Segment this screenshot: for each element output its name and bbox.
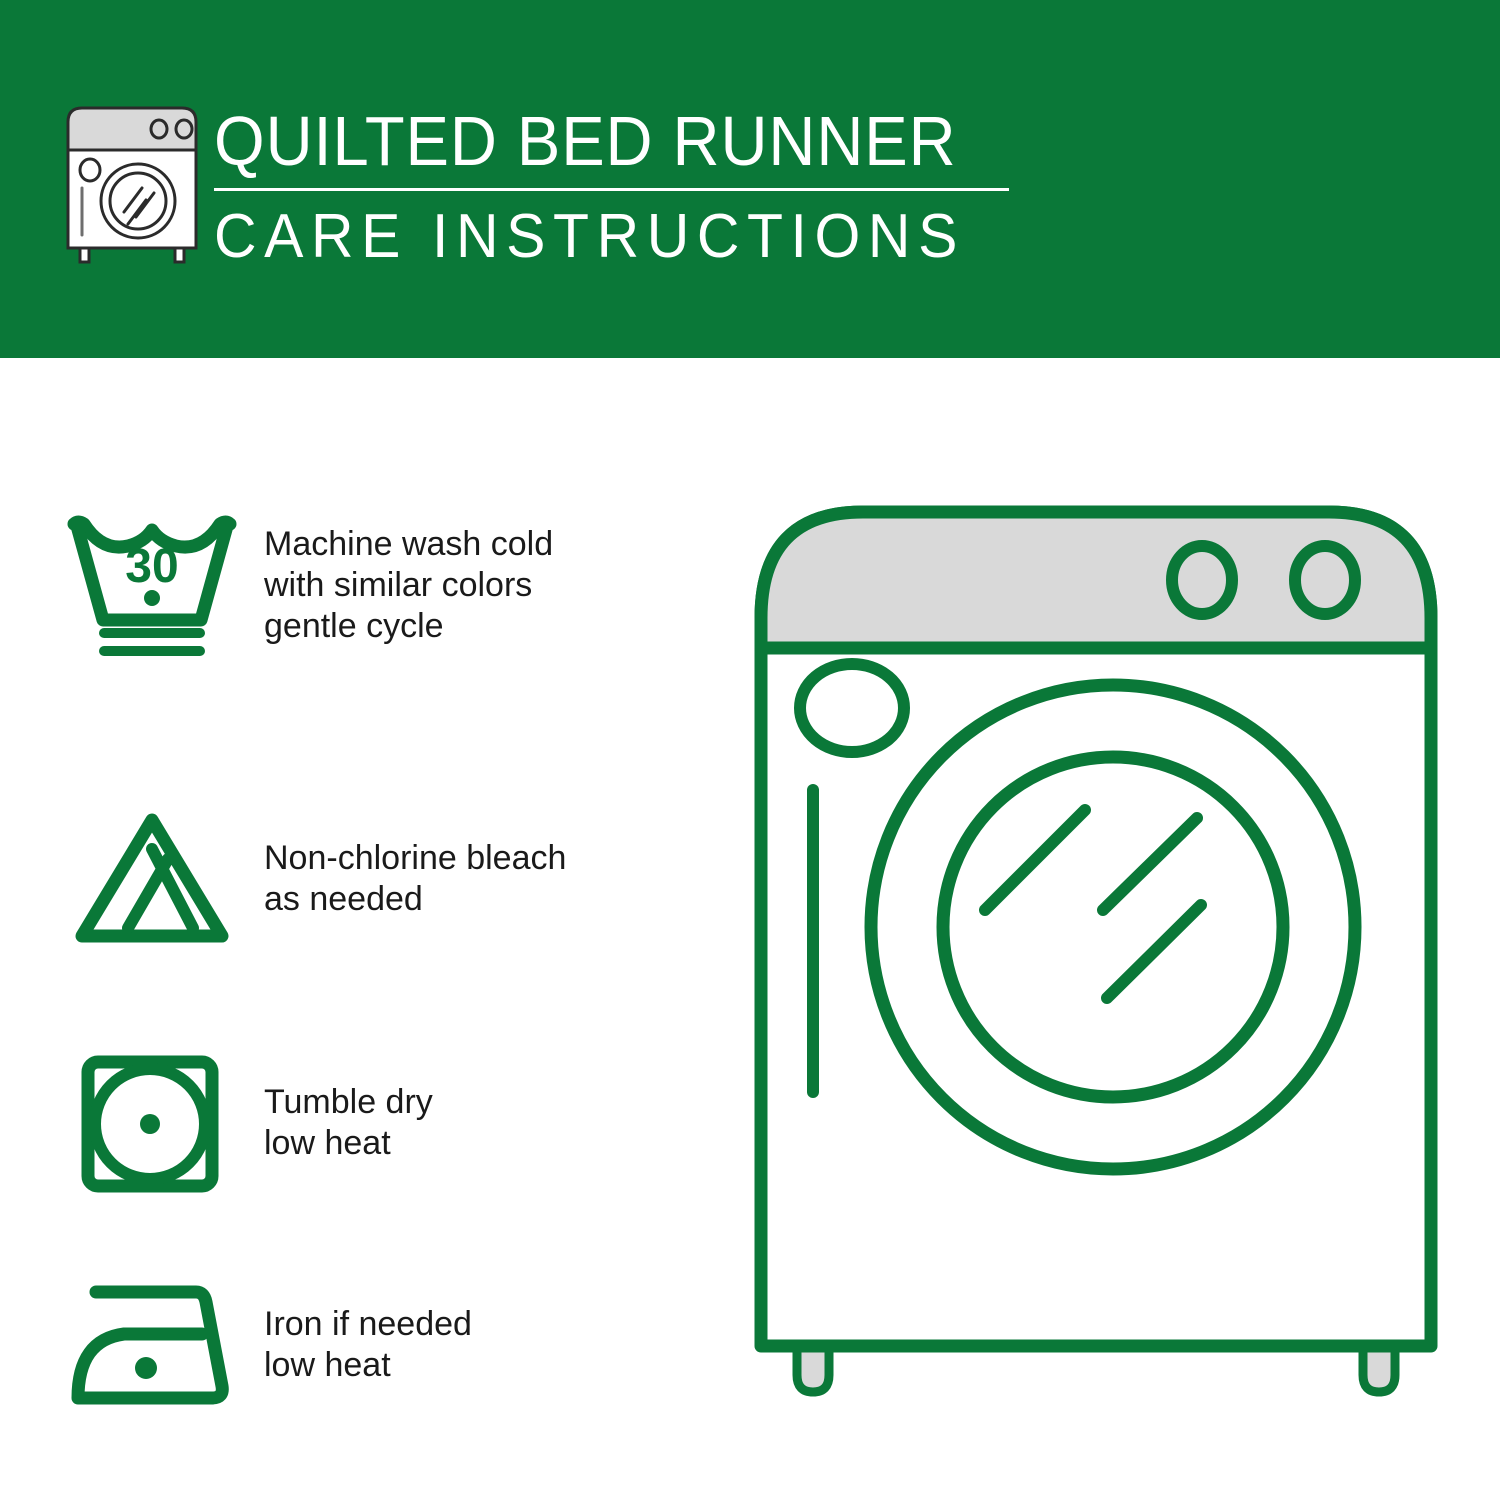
- title-divider: [214, 188, 1009, 191]
- care-line: Tumble dry: [264, 1082, 433, 1123]
- drum-inner-ring: [943, 757, 1283, 1097]
- care-row-wash: 30 Machine wash cold with similar colors…: [0, 510, 700, 660]
- care-line: with similar colors: [264, 565, 553, 606]
- machine-wash-30-gentle-icon: 30: [62, 510, 252, 660]
- care-text-wash: Machine wash cold with similar colors ge…: [264, 524, 553, 647]
- control-knob-right: [1295, 546, 1355, 614]
- washing-machine-icon: [62, 100, 202, 265]
- care-text-bleach: Non-chlorine bleach as needed: [264, 838, 566, 920]
- iron-low-heat-icon: [62, 1270, 252, 1420]
- washing-machine-illustration: [735, 490, 1455, 1410]
- care-instructions-page: QUILTED BED RUNNER CARE INSTRUCTIONS 30: [0, 0, 1500, 1500]
- page-subtitle: CARE INSTRUCTIONS: [214, 204, 993, 270]
- tumble-dry-low-icon: [62, 1048, 252, 1198]
- care-row-iron: Iron if needed low heat: [0, 1270, 700, 1420]
- non-chlorine-bleach-icon: [62, 804, 252, 954]
- care-row-tumble-dry: Tumble dry low heat: [0, 1048, 700, 1198]
- care-line: Machine wash cold: [264, 524, 553, 565]
- care-line: low heat: [264, 1123, 433, 1164]
- care-line: as needed: [264, 879, 566, 920]
- care-row-bleach: Non-chlorine bleach as needed: [0, 804, 700, 954]
- care-line: Iron if needed: [264, 1304, 472, 1345]
- care-line: low heat: [264, 1345, 472, 1386]
- care-text-iron: Iron if needed low heat: [264, 1304, 472, 1386]
- header-text-block: QUILTED BED RUNNER CARE INSTRUCTIONS: [214, 104, 1034, 270]
- control-knob-left: [1172, 546, 1232, 614]
- care-text-tumble-dry: Tumble dry low heat: [264, 1082, 433, 1164]
- care-line: gentle cycle: [264, 606, 553, 647]
- detergent-dispenser: [800, 664, 904, 752]
- header-banner: QUILTED BED RUNNER CARE INSTRUCTIONS: [0, 0, 1500, 358]
- care-instruction-list: 30 Machine wash cold with similar colors…: [0, 358, 700, 1500]
- wash-temperature-label: 30: [125, 540, 178, 593]
- page-title: QUILTED BED RUNNER: [214, 104, 977, 178]
- care-line: Non-chlorine bleach: [264, 838, 566, 879]
